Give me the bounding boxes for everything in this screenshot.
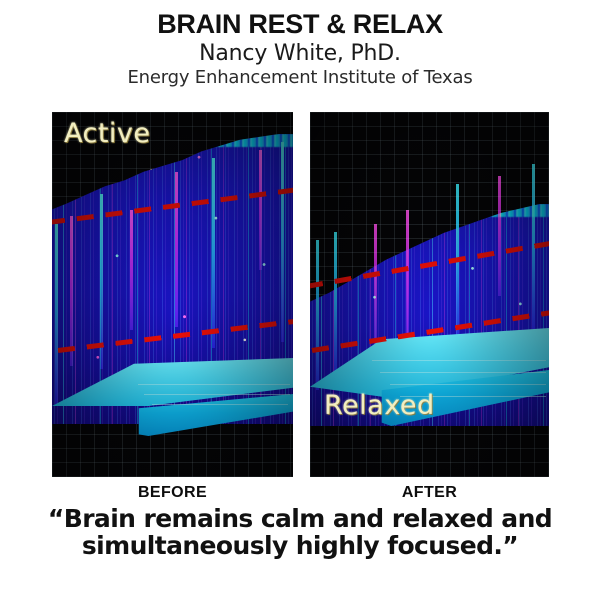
spike-cyan	[316, 240, 319, 390]
caption-after: AFTER	[310, 484, 549, 502]
spike-magenta	[70, 216, 73, 366]
poster-header: BRAIN REST & RELAX Nancy White, PhD. Ene…	[0, 0, 600, 87]
slab-rule	[138, 384, 290, 385]
panel-label-relaxed: Relaxed	[324, 390, 435, 421]
author-name: Nancy White, PhD.	[0, 39, 600, 65]
slab-rule	[372, 360, 546, 361]
spike-magenta	[374, 224, 377, 349]
spike-cyan	[281, 142, 284, 342]
quote-block: “Brain remains calm and relaxed and simu…	[0, 506, 600, 559]
slab-rule	[144, 394, 290, 395]
spike-magenta	[130, 210, 133, 330]
poster-root: BRAIN REST & RELAX Nancy White, PhD. Ene…	[0, 0, 600, 600]
spike-magenta	[259, 150, 262, 270]
spike-magenta	[498, 176, 501, 296]
affiliation-text: Energy Enhancement Institute of Texas	[0, 65, 600, 87]
brainmap-panel-before: Active	[52, 112, 293, 477]
slab-rule	[390, 384, 546, 385]
page-title: BRAIN REST & RELAX	[0, 0, 600, 39]
quote-line-1: “Brain remains calm and relaxed and	[0, 506, 600, 533]
spike-magenta	[406, 210, 409, 345]
spike-cyan	[55, 224, 58, 404]
spike-magenta	[175, 172, 178, 327]
panel-label-active: Active	[64, 118, 151, 149]
spike-cyan	[334, 232, 337, 377]
spike-cyan	[456, 184, 459, 344]
surface-crest	[310, 204, 549, 217]
slab-rule	[152, 404, 288, 405]
caption-before: BEFORE	[52, 484, 293, 502]
quote-line-2: simultaneously highly focused.”	[0, 533, 600, 560]
slab-rule	[380, 372, 546, 373]
brainmap-panel-after: Relaxed	[310, 112, 549, 477]
spike-cyan	[212, 158, 215, 348]
